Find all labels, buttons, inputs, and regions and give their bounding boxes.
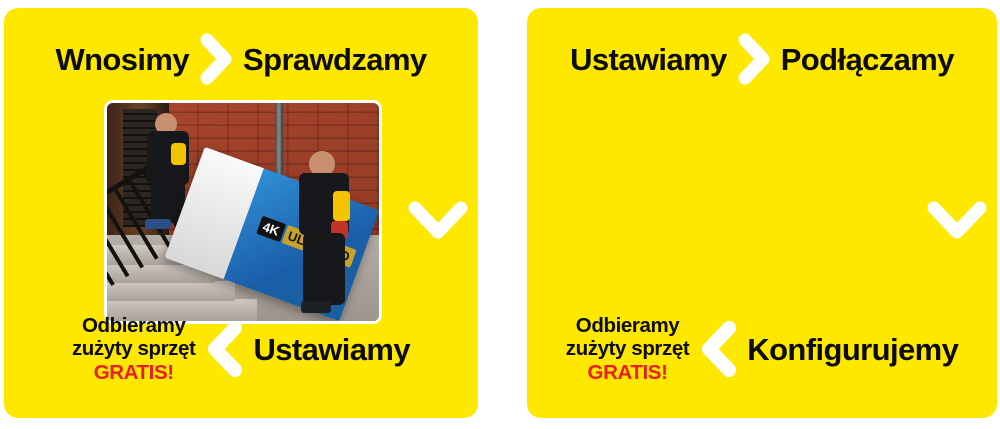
recycle-line-1: Odbieramy: [576, 314, 680, 337]
worker-sleeve: [333, 191, 350, 221]
recycle-note-left: Odbieramy zużyty sprzęt GRATIS!: [72, 314, 196, 383]
chevron-down-icon: [925, 196, 989, 246]
worker-sleeve: [171, 143, 186, 165]
service-steps-banner: Wnosimy Sprawdzamy: [0, 0, 1000, 429]
recycle-gratis: GRATIS!: [72, 361, 196, 384]
worker-shoe: [145, 219, 171, 229]
recycle-note-right: Odbieramy zużyty sprzęt GRATIS!: [566, 314, 690, 383]
recycle-line-1: Odbieramy: [82, 314, 186, 337]
worker-lower: [293, 151, 357, 317]
chevron-right-icon: [193, 32, 239, 86]
service-card-left: Wnosimy Sprawdzamy: [4, 8, 478, 418]
step-label-ustawiamy: Ustawiamy: [570, 44, 727, 75]
bottom-row-right: Odbieramy zużyty sprzęt GRATIS! Konfigur…: [527, 306, 997, 392]
chevron-left-icon: [691, 319, 745, 379]
photo-delivery-carrying-tv: 4K ULTRA HD: [104, 100, 382, 324]
headline-row-left: Wnosimy Sprawdzamy: [4, 30, 478, 88]
step-label-podlaczamy: Podłączamy: [781, 44, 954, 75]
recycle-gratis: GRATIS!: [566, 361, 690, 384]
service-card-right: Ustawiamy Podłączamy: [527, 8, 997, 418]
step-label-wnosimy: Wnosimy: [55, 44, 189, 75]
step-label-ustawiamy-bottom: Ustawiamy: [253, 334, 410, 365]
recycle-line-2: zużyty sprzęt: [566, 337, 690, 360]
bottom-row-left: Odbieramy zużyty sprzęt GRATIS! Ustawiam…: [4, 306, 478, 392]
step-label-sprawdzamy: Sprawdzamy: [243, 44, 427, 75]
recycle-line-2: zużyty sprzęt: [72, 337, 196, 360]
chevron-right-icon: [731, 32, 777, 86]
worker-trousers: [303, 233, 345, 305]
chevron-down-icon: [406, 196, 470, 246]
headline-row-right: Ustawiamy Podłączamy: [527, 30, 997, 88]
step-label-konfigurujemy: Konfigurujemy: [747, 334, 958, 365]
chevron-left-icon: [197, 319, 251, 379]
